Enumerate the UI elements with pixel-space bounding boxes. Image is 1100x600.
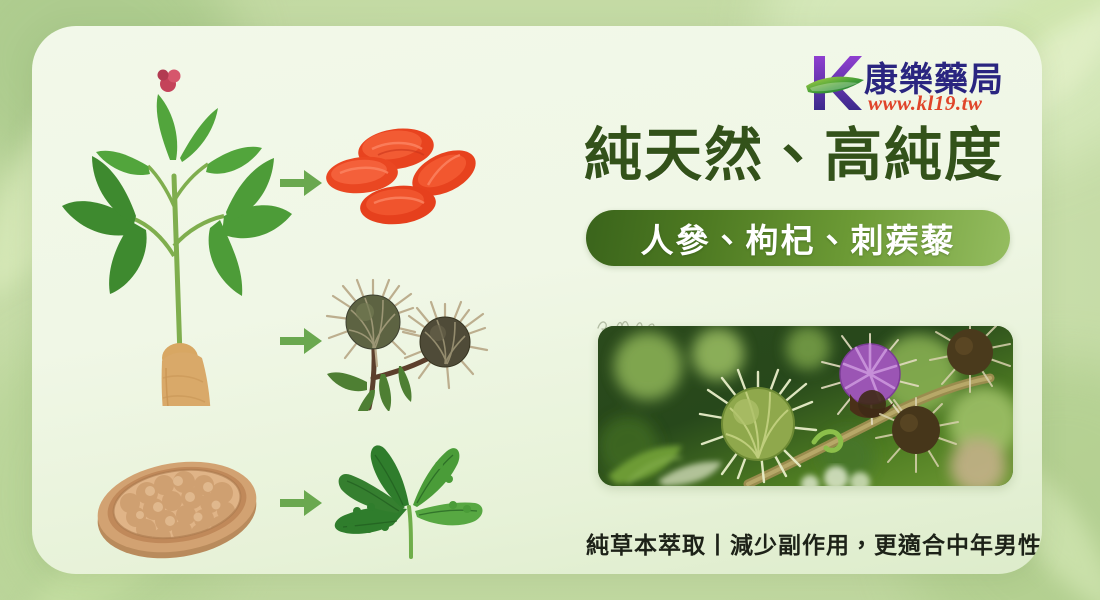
k-leaf-logo-icon	[806, 52, 868, 114]
ingredient-flow-column	[32, 26, 552, 574]
arrow-right-icon	[280, 168, 322, 198]
green-leaf-icon	[327, 441, 492, 561]
tribulus-photo	[598, 326, 1013, 486]
goji-berries-icon	[322, 121, 492, 231]
ingredients-badge-label: 人參、枸杞、刺蒺藜	[641, 214, 956, 262]
brand-url[interactable]: www.kl19.tw	[868, 91, 982, 116]
ginseng-plant-icon	[62, 56, 292, 406]
seed-bowl-icon	[92, 451, 262, 561]
arrow-right-icon	[280, 488, 322, 518]
ingredients-badge: 人參、枸杞、刺蒺藜	[586, 210, 1010, 266]
arrow-right-icon	[280, 326, 322, 356]
tribulus-burrs-icon	[317, 266, 497, 411]
caption-text: 純草本萃取丨減少副作用，更適合中年男性	[586, 526, 1042, 560]
brand-logo[interactable]: 康樂藥局 www.kl19.tw	[806, 48, 1016, 126]
promo-banner: 純天然、高純度 人參、枸杞、刺蒺藜	[0, 0, 1100, 600]
content-card: 純天然、高純度 人參、枸杞、刺蒺藜	[32, 26, 1042, 574]
headline: 純天然、高純度	[584, 124, 1004, 188]
